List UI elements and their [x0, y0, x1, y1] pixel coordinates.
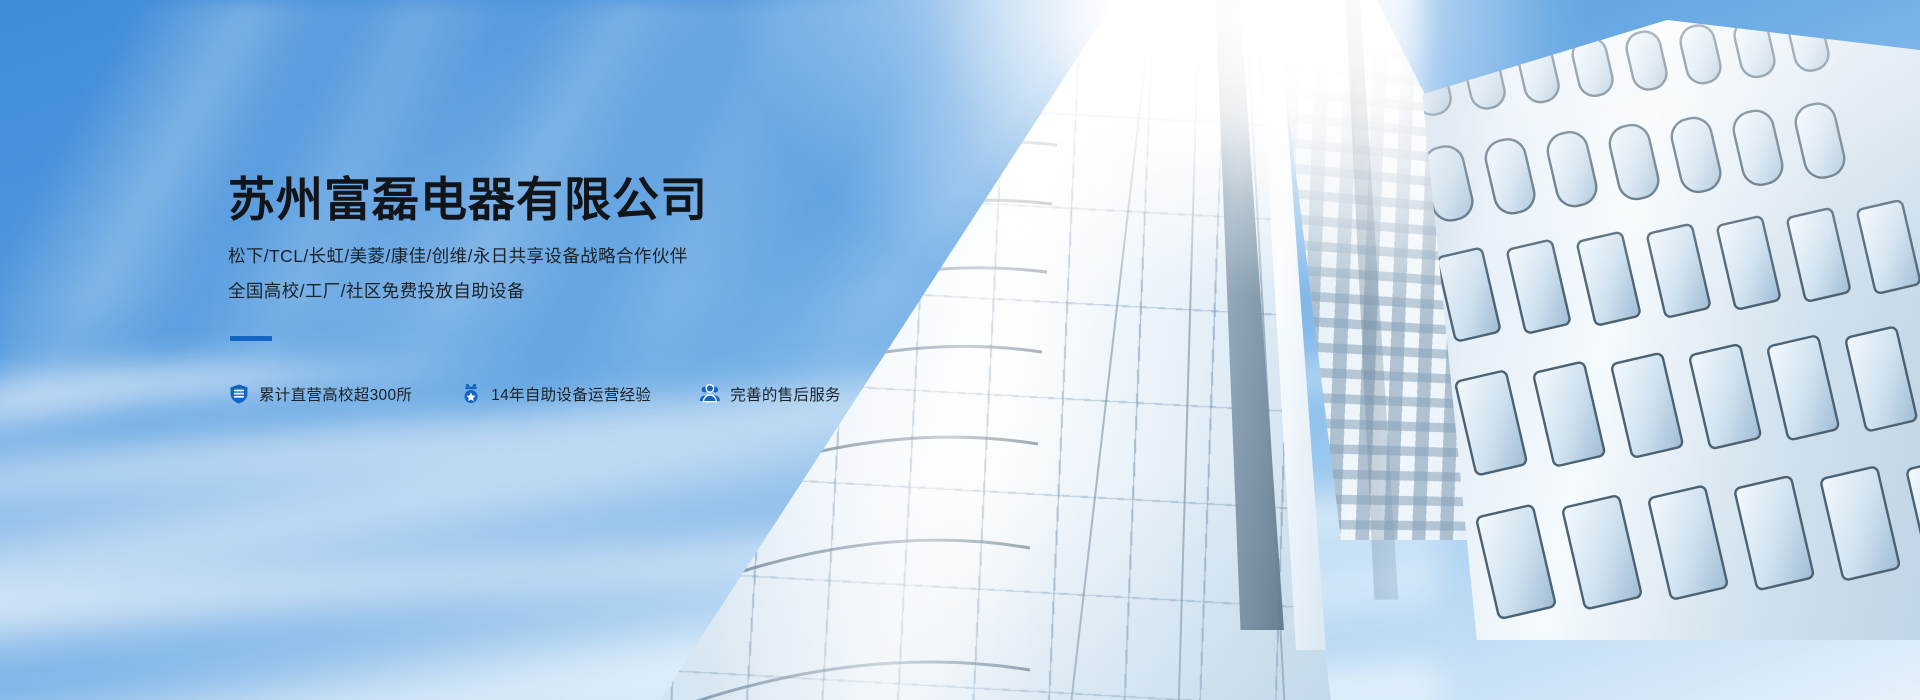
feature-badge-label: 完善的售后服务: [730, 383, 841, 405]
feature-badge-campuses: 累计直营高校超300所: [228, 383, 412, 405]
feature-badge-label: 累计直营高校超300所: [259, 383, 412, 405]
hero-subtitle: 松下/TCL/长虹/美菱/康佳/创维/永日共享设备战略合作伙伴 全国高校/工厂/…: [228, 239, 1048, 307]
feature-badge-experience: 14年自助设备运营经验: [460, 383, 651, 405]
hero-subtitle-line-1: 松下/TCL/长虹/美菱/康佳/创维/永日共享设备战略合作伙伴: [228, 239, 1048, 273]
hero-copy: 苏州富磊电器有限公司 松下/TCL/长虹/美菱/康佳/创维/永日共享设备战略合作…: [228, 172, 1048, 405]
accent-divider: [230, 336, 272, 341]
users-icon: [699, 383, 721, 405]
hero-banner: 苏州富磊电器有限公司 松下/TCL/长虹/美菱/康佳/创维/永日共享设备战略合作…: [0, 0, 1920, 700]
medal-icon: [460, 383, 482, 405]
hero-subtitle-line-2: 全国高校/工厂/社区免费投放自助设备: [228, 274, 1048, 308]
feature-badge-service: 完善的售后服务: [699, 383, 841, 405]
shield-icon: [228, 383, 250, 405]
page-title: 苏州富磊电器有限公司: [228, 172, 1048, 227]
feature-badge-list: 累计直营高校超300所 14年自助设备运营经验: [228, 383, 1048, 405]
feature-badge-label: 14年自助设备运营经验: [491, 383, 651, 405]
